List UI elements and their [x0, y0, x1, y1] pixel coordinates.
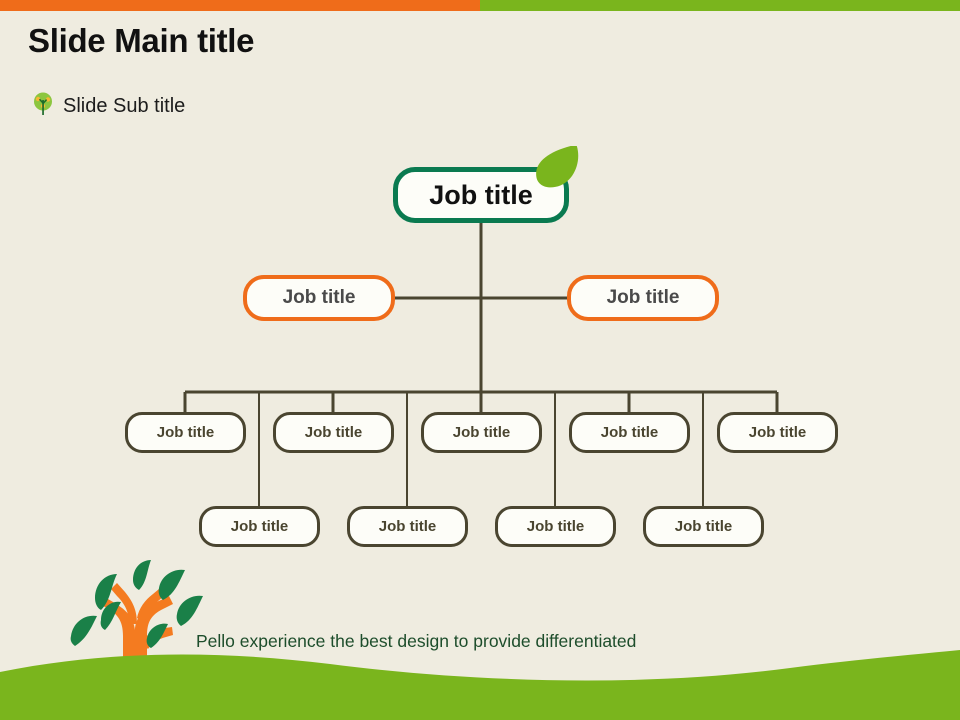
slide-canvas: Slide Main title Slide Sub title — [0, 0, 960, 720]
org-node-level1-1[interactable]: Job title — [393, 167, 569, 223]
org-node-label: Job title — [305, 424, 363, 441]
decorative-tree-illustration — [55, 558, 215, 703]
org-node-label: Job title — [283, 287, 356, 309]
footer-caption-line-2: services — [196, 654, 836, 679]
org-node-label: Job title — [429, 180, 533, 211]
org-node-level2-1[interactable]: Job title — [243, 275, 395, 321]
org-node-label: Job title — [453, 424, 511, 441]
org-node-label: Job title — [157, 424, 215, 441]
org-node-level3-5[interactable]: Job title — [717, 412, 838, 453]
org-node-level3-3[interactable]: Job title — [421, 412, 542, 453]
org-node-level4-3[interactable]: Job title — [495, 506, 616, 547]
org-node-level3-1[interactable]: Job title — [125, 412, 246, 453]
org-node-level3-4[interactable]: Job title — [569, 412, 690, 453]
org-node-level2-2[interactable]: Job title — [567, 275, 719, 321]
org-node-label: Job title — [607, 287, 680, 309]
org-node-label: Job title — [379, 518, 437, 535]
footer-caption: Pello experience the best design to prov… — [196, 629, 836, 704]
org-node-label: Job title — [675, 518, 733, 535]
org-node-label: Job title — [601, 424, 659, 441]
footer-caption-line-1: Pello experience the best design to prov… — [196, 629, 836, 654]
org-node-level4-4[interactable]: Job title — [643, 506, 764, 547]
org-node-label: Job title — [527, 518, 585, 535]
org-node-label: Job title — [749, 424, 807, 441]
org-node-label: Job title — [231, 518, 289, 535]
footer-caption-line-3: Of the presentation will be a companion. — [196, 679, 836, 704]
org-node-level4-2[interactable]: Job title — [347, 506, 468, 547]
org-node-level4-1[interactable]: Job title — [199, 506, 320, 547]
org-node-level3-2[interactable]: Job title — [273, 412, 394, 453]
